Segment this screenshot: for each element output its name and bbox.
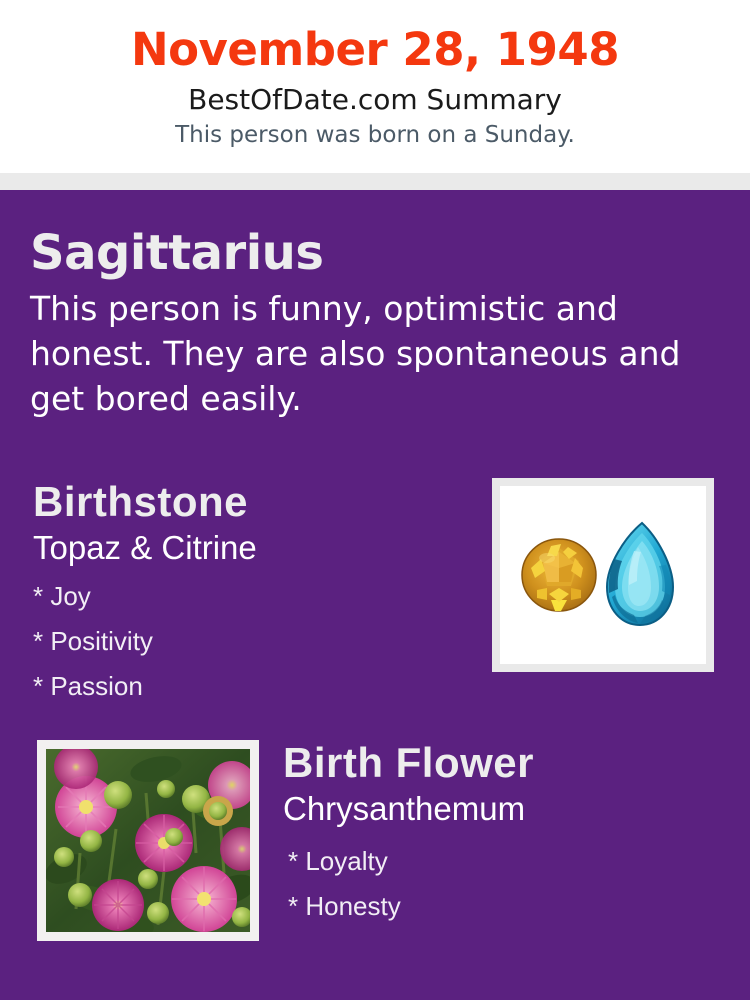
birth-flower-name: Chrysanthemum <box>283 789 743 829</box>
header-divider <box>0 173 750 190</box>
page-title-date: November 28, 1948 <box>0 22 750 78</box>
birth-flower-trait-list: * Loyalty * Honesty <box>283 839 743 929</box>
content-panel: Sagittarius This person is funny, optimi… <box>0 190 750 1000</box>
birth-flower-heading: Birth Flower <box>283 738 743 788</box>
day-of-week-text: This person was born on a Sunday. <box>0 120 750 150</box>
zodiac-sign-name: Sagittarius <box>30 224 730 282</box>
birth-flower-image-card <box>37 740 259 941</box>
list-item: * Joy <box>33 574 463 619</box>
birthstone-heading: Birthstone <box>33 477 463 527</box>
birthstone-trait-list: * Joy * Positivity * Passion <box>33 574 463 709</box>
birth-flower-section: Birth Flower Chrysanthemum * Loyalty * H… <box>283 738 743 929</box>
birthstone-name: Topaz & Citrine <box>33 528 463 568</box>
citrine-gem-icon <box>521 538 597 612</box>
list-item: * Passion <box>33 664 463 709</box>
zodiac-description: This person is funny, optimistic and hon… <box>30 286 730 421</box>
birthstone-section: Birthstone Topaz & Citrine * Joy * Posit… <box>33 477 463 709</box>
topaz-gem-icon <box>604 521 676 627</box>
site-name: BestOfDate.com Summary <box>0 82 750 118</box>
header: November 28, 1948 BestOfDate.com Summary… <box>0 0 750 173</box>
list-item: * Positivity <box>33 619 463 664</box>
chrysanthemum-illustration <box>46 749 250 932</box>
summary-card: November 28, 1948 BestOfDate.com Summary… <box>0 0 750 1000</box>
zodiac-section: Sagittarius This person is funny, optimi… <box>30 224 730 421</box>
birth-flower-image <box>46 749 250 932</box>
list-item: * Loyalty <box>283 839 743 884</box>
birthstone-image <box>500 486 706 664</box>
list-item: * Honesty <box>283 884 743 929</box>
birthstone-image-card <box>492 478 714 672</box>
